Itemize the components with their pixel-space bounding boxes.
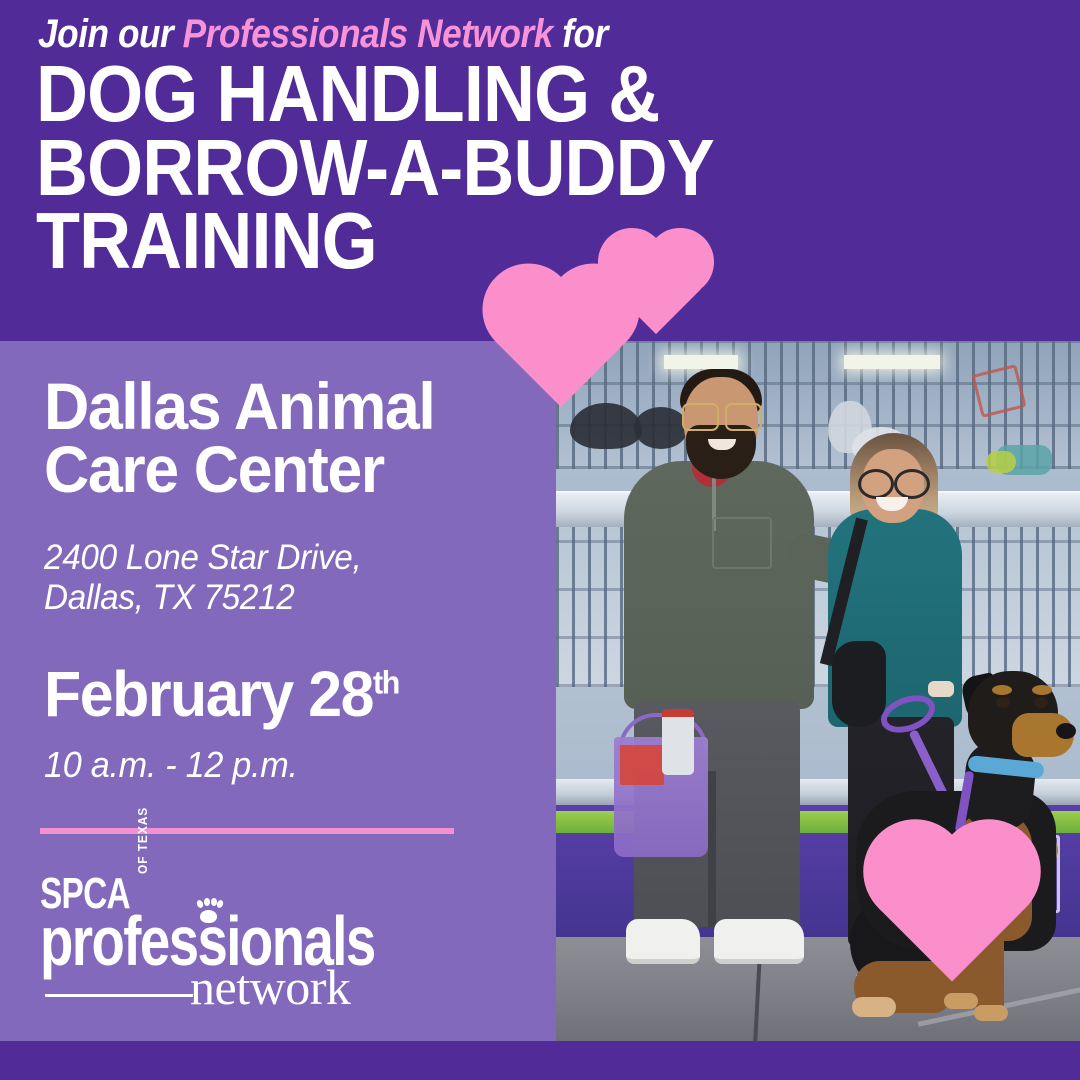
paw-print-icon [193, 898, 223, 924]
ceiling-light [664, 355, 738, 369]
dog-eye [1034, 697, 1048, 708]
event-date-day: February 28 [44, 658, 373, 730]
crossbody-purse [832, 641, 886, 727]
event-date-ordinal: th [373, 665, 399, 701]
venue-name: Dallas Animal Care Center [44, 375, 519, 502]
venue-address: 2400 Lone Star Drive, Dallas, TX 75212 [44, 538, 519, 619]
footer-band [0, 1041, 1080, 1080]
event-date: February 28th [44, 662, 399, 726]
event-flyer: Join our Professionals Network for DOG H… [0, 0, 1080, 1080]
address-line-1: 2400 Lone Star Drive, [44, 538, 519, 578]
dog-brow-marking [1032, 685, 1052, 695]
man-shoe [626, 919, 700, 964]
man-pant-seam [708, 771, 716, 927]
man-pocket [712, 517, 772, 569]
venue-line-2: Care Center [44, 438, 519, 501]
logo-of-texas: OF TEXAS [136, 807, 149, 874]
man-torso [624, 461, 814, 709]
headline-line-1: DOG HANDLING & [36, 57, 846, 131]
man-shoe [714, 919, 804, 964]
woman-glasses [858, 469, 930, 493]
dog-nose [1056, 723, 1076, 739]
event-time: 10 a.m. - 12 p.m. [44, 744, 298, 786]
dog-hind-paw [852, 997, 896, 1017]
wristwatch [928, 681, 954, 697]
logo-network-wordmark: network [190, 962, 350, 1012]
pink-divider [40, 828, 454, 834]
headline-line-2: BORROW-A-BUDDY [36, 131, 846, 205]
logo-rule [45, 994, 193, 997]
man-glasses [682, 403, 762, 427]
event-photo [556, 341, 1080, 1041]
ceiling-light [844, 355, 940, 369]
address-line-2: Dallas, TX 75212 [44, 578, 519, 618]
kenneled-dog [634, 407, 688, 449]
dog-eye [996, 697, 1010, 708]
kennel-blanket [986, 451, 1016, 473]
headline-line-3: TRAINING [36, 204, 846, 278]
kenneled-dog [570, 403, 642, 449]
event-headline: DOG HANDLING & BORROW-A-BUDDY TRAINING [36, 57, 846, 278]
shopping-bag-label [620, 745, 664, 785]
dog-brow-marking [992, 685, 1012, 695]
dog-paw [944, 993, 978, 1009]
dog-paw [974, 1005, 1008, 1021]
logo-network-row: network [40, 968, 380, 1018]
supply-jug [662, 709, 694, 775]
venue-line-1: Dallas Animal [44, 375, 519, 438]
